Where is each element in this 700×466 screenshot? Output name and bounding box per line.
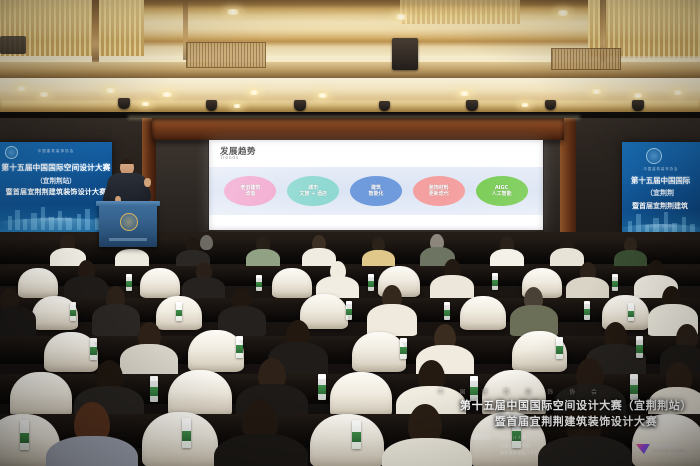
caption-line-2: 暨首届宜荆荆建筑装饰设计大赛 [460, 414, 692, 430]
ceiling-light [316, 93, 329, 98]
water-bottle [182, 418, 191, 448]
ceiling-speaker [118, 98, 130, 109]
ceiling-light [232, 104, 242, 108]
ceiling-light [394, 14, 408, 20]
ceiling-light [38, 92, 50, 97]
ceiling-light [104, 88, 117, 93]
chair [460, 296, 506, 330]
conference-photo: 中国建筑装饰协会 第十五届中国国际空间设计大赛 （宜荆荆站） 暨首届宜荆荆建筑装… [0, 0, 700, 466]
slide-topic-line2: 文旅 + 酒店 [299, 191, 327, 197]
water-bottle [176, 302, 182, 321]
slide-subtitle: Trends [220, 156, 239, 161]
water-bottle [256, 275, 262, 291]
speaker-hand-right [144, 178, 151, 187]
slide-topic-group: 老旧建筑 改造 城市 文旅 + 酒店 建筑 智能化 装饰材料 更新迭代 AIGC… [209, 170, 543, 212]
ceiling-light [520, 103, 530, 107]
ceiling-speaker [379, 101, 390, 111]
banner-right-eyebrow: 中国建筑装饰协会 [622, 166, 700, 171]
attendee-body [214, 434, 308, 466]
caption-line-1: 第十五届中国国际空间设计大赛（宜荆荆站） [460, 398, 692, 414]
chair [142, 412, 218, 466]
ceiling-light [140, 102, 151, 106]
attendee-body [46, 436, 138, 466]
water-bottle [444, 302, 450, 320]
ceiling-speaker [392, 38, 418, 70]
podium [99, 203, 157, 247]
water-bottle [636, 336, 643, 358]
attendee-head [200, 235, 213, 250]
banner-left-footnote: 主办单位 承办单位 [0, 216, 112, 221]
brand-watermark: Rainbow DESIGN AWARD [636, 444, 686, 454]
screen-wood-frame [152, 118, 564, 140]
brand-mark-icon [636, 444, 650, 454]
water-bottle [612, 274, 618, 291]
attendee-body [92, 304, 140, 336]
ceiling-speaker [294, 100, 306, 111]
water-bottle [628, 303, 634, 321]
attendee-body [0, 306, 36, 336]
water-bottle [90, 338, 97, 360]
water-bottle [556, 337, 563, 359]
water-bottle [236, 336, 243, 358]
banner-left: 中国建筑装饰协会 第十五届中国国际空间设计大赛 （宜荆荆站） 暨首届宜荆荆建筑装… [0, 142, 112, 242]
watermark-text: 中 国 建 筑 装 饰 协 会 [438, 387, 604, 396]
association-logo-icon [646, 148, 662, 164]
ceiling-speaker [632, 100, 644, 111]
watermark-panel: 空间设计大赛 组委会 · 宜荆荆 参赛报名通道已开启 [500, 434, 596, 456]
chair [330, 372, 392, 418]
slide-topic-line2: 智能化 [368, 191, 383, 197]
ceiling-light [225, 9, 241, 15]
ceiling-light [590, 89, 603, 94]
audience-area [0, 232, 700, 466]
water-bottle [318, 374, 326, 400]
brand-tagline: DESIGN AWARD [653, 450, 686, 454]
slide-topic: 老旧建筑 改造 [224, 176, 276, 206]
ceiling-light [160, 92, 174, 97]
water-bottle [126, 274, 132, 291]
water-bottle [492, 273, 498, 290]
slide-topic: 城市 文旅 + 酒店 [287, 176, 339, 206]
ceiling-light [15, 86, 28, 91]
ceiling-light [458, 91, 471, 96]
water-bottle [70, 302, 76, 321]
podium-top-edge [96, 201, 160, 206]
slide-topic: AIGC 人工智能 [476, 176, 528, 206]
water-bottle [346, 301, 352, 320]
watermark-pill [472, 434, 490, 440]
watermark-panel-line: 参赛报名通道已开启 [500, 449, 596, 456]
chair [352, 332, 406, 372]
ceiling-speaker [206, 100, 217, 111]
slide-topic-line2: 改造 [245, 191, 255, 197]
chair [300, 294, 348, 329]
water-bottle [400, 338, 407, 359]
banner-left-heading-1: 第十五届中国国际空间设计大赛 [0, 162, 112, 173]
ceiling-light [632, 93, 644, 98]
water-bottle [368, 274, 374, 291]
podium-emblem-icon [120, 213, 138, 231]
slide-topic-line2: 更新迭代 [429, 191, 449, 197]
projection-screen: 发展趋势 Trends 老旧建筑 改造 城市 文旅 + 酒店 建筑 智能化 装饰… [209, 140, 543, 230]
banner-left-heading-3: 暨首届宜荆荆建筑装饰设计大赛 [0, 187, 112, 197]
slide-topic: 装饰材料 更新迭代 [413, 176, 465, 206]
watermark-panel-line: 空间设计大赛 [500, 434, 596, 441]
air-vent [551, 48, 621, 70]
overlay-caption: 第十五届中国国际空间设计大赛（宜荆荆站） 暨首届宜荆荆建筑装饰设计大赛 [460, 398, 692, 430]
attendee-body [382, 438, 472, 466]
water-bottle [150, 376, 158, 402]
banner-right-heading-3: 暨首届宜荆荆建筑 [622, 201, 700, 211]
chair [272, 268, 312, 298]
water-bottle [20, 420, 29, 450]
watermark-panel-line: 组委会 · 宜荆荆 [500, 442, 596, 449]
chair [18, 268, 58, 298]
ceiling-speaker [545, 100, 556, 110]
ceiling [0, 0, 700, 112]
ceiling-light [672, 90, 684, 95]
banner-left-heading-2: （宜荆荆站） [0, 175, 112, 185]
chair [140, 268, 180, 298]
chair [10, 372, 72, 418]
slide-topic: 建筑 智能化 [350, 176, 402, 206]
ceiling-light [556, 10, 570, 16]
air-vent [186, 42, 266, 68]
banner-right-footnote: 主办单位 承办单位 [622, 224, 700, 228]
ceiling-speaker [466, 100, 478, 111]
water-bottle [352, 420, 361, 449]
chair [168, 370, 232, 418]
slide-topic-line2: 人工智能 [492, 191, 512, 197]
ceiling-light [248, 90, 260, 95]
podium-text-strip [109, 238, 147, 241]
banner-right-heading-1: 第十五届中国国际 [622, 175, 700, 186]
banner-left-eyebrow: 中国建筑装饰协会 [0, 148, 112, 153]
banner-right-heading-2: （宜荆荆 [622, 188, 700, 198]
water-bottle [584, 301, 590, 320]
water-bottle [630, 374, 638, 400]
chair [310, 414, 384, 466]
